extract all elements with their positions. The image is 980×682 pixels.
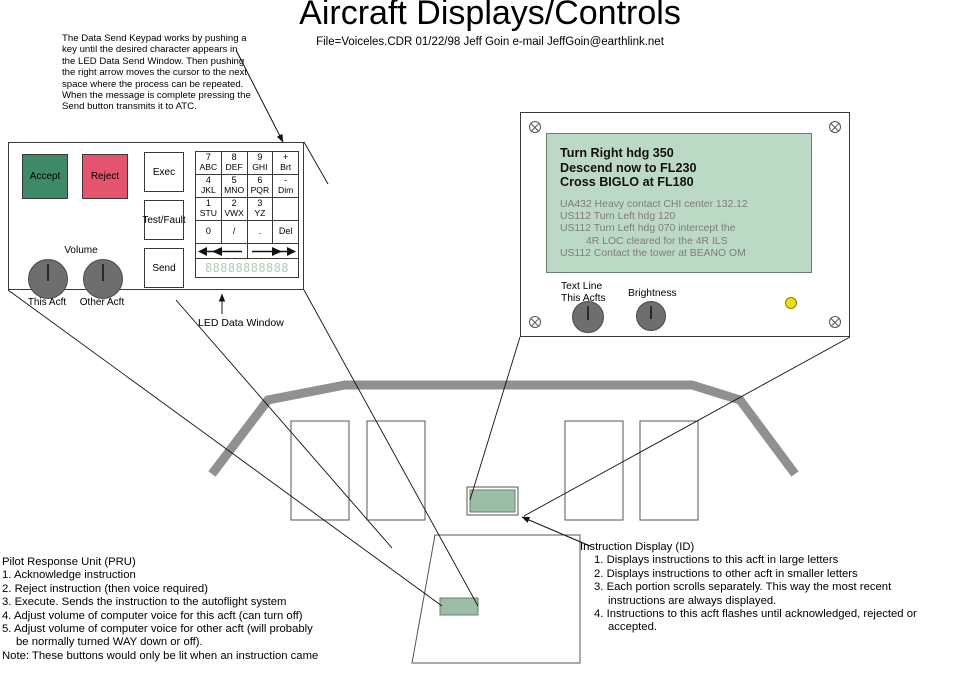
- pru-item-4: 4. Adjust volume of computer voice for t…: [2, 610, 402, 623]
- center-pedestal: [412, 535, 580, 663]
- id-item-4-text: Instructions to this acft flashes until …: [607, 608, 917, 620]
- id-item-1-num: 1.: [594, 554, 603, 566]
- pru-item-5-cont: be normally turned WAY down or off).: [2, 636, 402, 649]
- id-item-4-num: 4.: [594, 608, 603, 620]
- id-item-4: 4. Instructions to this acft flashes unt…: [580, 608, 980, 621]
- pru-item-1: 1. Acknowledge instruction: [2, 569, 402, 582]
- id-item-1: 1. Displays instructions to this acft in…: [580, 554, 980, 567]
- id-item-3-text: Each portion scrolls separately. This wa…: [607, 581, 892, 593]
- pru-item-1-text: Acknowledge instruction: [14, 569, 136, 581]
- pru-item-1-num: 1.: [2, 569, 11, 581]
- id-item-3-num: 3.: [594, 581, 603, 593]
- pru-item-5-num: 5.: [2, 623, 11, 635]
- pru-item-4-num: 4.: [2, 610, 11, 622]
- pru-title: Pilot Response Unit (PRU): [2, 556, 402, 569]
- pru-item-5-text: Adjust volume of computer voice for othe…: [14, 623, 313, 635]
- id-location-screen: [470, 490, 515, 512]
- id-item-3: 3. Each portion scrolls separately. This…: [580, 581, 980, 594]
- diagram-canvas: Aircraft Displays/Controls File=Voiceles…: [0, 0, 980, 682]
- pru-item-3-num: 3.: [2, 596, 11, 608]
- id-item-3-cont: instructions are always displayed.: [580, 595, 980, 608]
- panel-display-2: [367, 421, 425, 520]
- id-item-2: 2. Displays instructions to other acft i…: [580, 568, 980, 581]
- panel-display-1: [291, 421, 349, 520]
- id-item-4-cont: accepted.: [580, 621, 980, 634]
- pru-note: Note: These buttons would only be lit wh…: [2, 650, 402, 663]
- id-callout-text: Instruction Display (ID) 1. Displays ins…: [580, 541, 980, 635]
- panel-display-4: [640, 421, 698, 520]
- pru-item-5: 5. Adjust volume of computer voice for o…: [2, 623, 402, 636]
- pru-item-4-text: Adjust volume of computer voice for this…: [14, 610, 303, 622]
- pru-item-2-text: Reject instruction (then voice required): [15, 583, 208, 595]
- id-item-2-num: 2.: [594, 568, 603, 580]
- id-item-2-text: Displays instructions to other acft in s…: [607, 568, 858, 580]
- panel-display-3: [565, 421, 623, 520]
- id-item-1-text: Displays instructions to this acft in la…: [607, 554, 839, 566]
- pru-item-3: 3. Execute. Sends the instruction to the…: [2, 596, 402, 609]
- id-callout-title: Instruction Display (ID): [580, 541, 980, 554]
- pru-item-2: 2. Reject instruction (then voice requir…: [2, 583, 402, 596]
- pru-callout-text: Pilot Response Unit (PRU) 1. Acknowledge…: [2, 556, 402, 663]
- pru-location-unit: [440, 598, 478, 615]
- pru-item-2-num: 2.: [2, 583, 11, 595]
- pru-item-3-text: Execute. Sends the instruction to the au…: [15, 596, 287, 608]
